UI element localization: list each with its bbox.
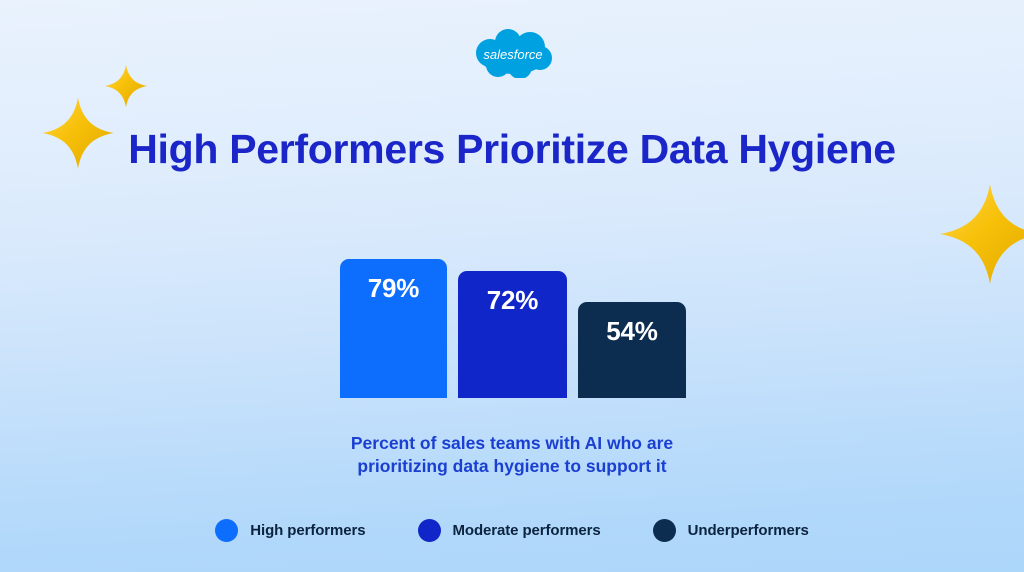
- legend-label: High performers: [250, 522, 365, 539]
- legend-label: Underperformers: [688, 522, 809, 539]
- bar-chart: 79% 72% 54%: [340, 250, 686, 398]
- legend-item-underperformers: Underperformers: [653, 519, 809, 542]
- caption-line-1: Percent of sales teams with AI who are: [0, 432, 1024, 456]
- bar-value-label: 54%: [578, 316, 686, 347]
- four-point-star-icon: [938, 182, 1024, 286]
- chart-caption: Percent of sales teams with AI who are p…: [0, 432, 1024, 479]
- chart-legend: High performers Moderate performers Unde…: [0, 519, 1024, 542]
- bar-high-performers: 79%: [340, 259, 447, 398]
- salesforce-logo: salesforce: [468, 26, 558, 78]
- legend-dot-icon: [215, 519, 238, 542]
- caption-line-2: prioritizing data hygiene to support it: [0, 455, 1024, 479]
- infographic-slide: salesforce: [0, 0, 1024, 572]
- bar-underperformers: 54%: [578, 302, 686, 398]
- page-title: High Performers Prioritize Data Hygiene: [0, 126, 1024, 173]
- bar-value-label: 72%: [458, 285, 567, 316]
- salesforce-wordmark: salesforce: [483, 47, 542, 62]
- bar-value-label: 79%: [340, 273, 447, 304]
- legend-item-moderate-performers: Moderate performers: [418, 519, 601, 542]
- legend-label: Moderate performers: [453, 522, 601, 539]
- legend-item-high-performers: High performers: [215, 519, 365, 542]
- four-point-star-icon: [104, 64, 148, 108]
- bar-moderate-performers: 72%: [458, 271, 567, 398]
- legend-dot-icon: [653, 519, 676, 542]
- legend-dot-icon: [418, 519, 441, 542]
